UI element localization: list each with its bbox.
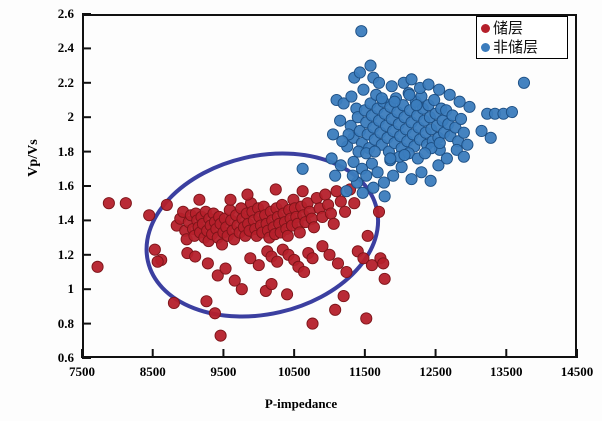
legend-item-non-reservoir[interactable]: 非储层 <box>481 38 563 57</box>
legend-item-reservoir[interactable]: 储层 <box>481 19 563 38</box>
y-tick-label: 0.8 <box>12 316 82 332</box>
y-tick-label: 2.6 <box>12 6 82 22</box>
chart-page: 0.60.811.21.41.61.822.22.42.6 7500850095… <box>0 0 602 421</box>
x-tick-label: 7500 <box>69 364 95 380</box>
legend-label-reservoir: 储层 <box>493 21 523 36</box>
y-tick-label: 1.4 <box>12 212 82 228</box>
x-axis-tick-labels: 7500850095001050011500125001350014500 <box>0 364 602 388</box>
x-tick-label: 13500 <box>490 364 523 380</box>
x-tick-label: 9500 <box>210 364 236 380</box>
y-tick-label: 2 <box>12 109 82 125</box>
legend-label-non-reservoir: 非储层 <box>493 40 538 55</box>
y-axis-title: Vp/Vs <box>26 118 42 198</box>
y-tick-label: 1.8 <box>12 144 82 160</box>
y-tick-label: 1.6 <box>12 178 82 194</box>
x-axis-title: P-impedance <box>0 396 602 412</box>
x-tick-label: 11500 <box>349 364 381 380</box>
x-tick-label: 10500 <box>278 364 311 380</box>
x-tick-label: 14500 <box>561 364 594 380</box>
y-tick-label: 1.2 <box>12 247 82 263</box>
y-tick-label: 2.2 <box>12 75 82 91</box>
legend-marker-non-reservoir-icon <box>481 43 490 52</box>
legend[interactable]: 储层 非储层 <box>476 16 568 59</box>
x-tick-label: 12500 <box>419 364 452 380</box>
y-tick-label: 2.4 <box>12 40 82 56</box>
plot-frame <box>82 14 577 358</box>
x-tick-label: 8500 <box>140 364 166 380</box>
y-tick-label: 1 <box>12 281 82 297</box>
y-axis-tick-labels: 0.60.811.21.41.61.822.22.42.6 <box>0 0 82 421</box>
legend-marker-reservoir-icon <box>481 24 490 33</box>
